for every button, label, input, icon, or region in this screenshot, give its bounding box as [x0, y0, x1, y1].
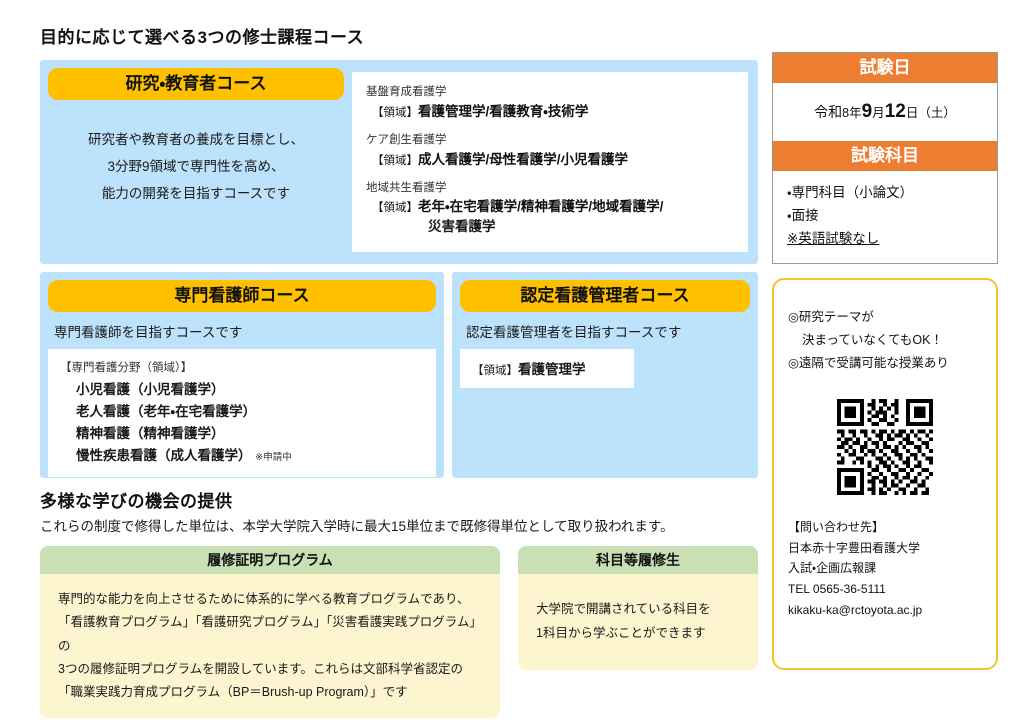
- brochure-page: 目的に応じて選べる3つの修士課程コース 研究・教育者コース 研究者や教育者の養成…: [0, 0, 1024, 724]
- program-certificate-header: 履修証明プログラム: [40, 546, 500, 574]
- cns-spec-label: 慢性疾患看護（成人看護学）: [76, 448, 252, 463]
- exam-date-value: 令和8年9月12日（土）: [773, 83, 997, 141]
- exam-info-column: 試験日 令和8年9月12日（土） 試験科目 ・専門科目（小論文） ・面接 ※英語…: [772, 52, 998, 670]
- course-admin-area: 看護管理学: [518, 362, 586, 377]
- cns-spec-item: 慢性疾患看護（成人看護学） ※申請中: [60, 445, 424, 467]
- cns-spec-item: 小児看護（小児看護学）: [60, 379, 424, 401]
- exam-day: 12: [885, 101, 906, 122]
- course-research-line-3: 能力の開発を目指すコースです: [48, 180, 344, 207]
- exam-subject-item: ・専門科目（小論文）: [787, 181, 985, 204]
- exam-subject-list: ・専門科目（小論文） ・面接 ※英語試験なし: [773, 171, 997, 263]
- cns-spec-header: 【専門看護分野（領域）】: [60, 359, 424, 375]
- contact-university: 日本赤十字豊田看護大学: [788, 538, 982, 559]
- contact-header: 【問い合わせ先】: [788, 517, 982, 538]
- cns-spec-item: 老人看護（老年・在宅看護学）: [60, 401, 424, 423]
- auditor-body: 大学院で開講されている科目を 1科目から学ぶことができます: [518, 574, 758, 670]
- field-group: ケア創生看護学 【領域】成人看護学/母性看護学/小児看護学: [366, 132, 734, 169]
- course-admin-header: 認定看護管理者コース: [460, 280, 750, 312]
- contact-block: 【問い合わせ先】 日本赤十字豊田看護大学 入試・企画広報課 TEL 0565-3…: [788, 517, 982, 620]
- programs-row: 履修証明プログラム 専門的な能力を向上させるために体系的に学べる教育プログラムで…: [40, 546, 758, 718]
- area-tag: 【領域】: [372, 202, 418, 214]
- courses-column: 目的に応じて選べる3つの修士課程コース 研究・教育者コース 研究者や教育者の養成…: [40, 28, 758, 718]
- exam-month-unit: 月: [872, 106, 885, 120]
- info-box: ◎研究テーマが 決まっていなくてもOK！ ◎遠隔で受講可能な授業あり: [772, 278, 998, 670]
- field-name: 地域共生看護学: [366, 180, 734, 197]
- exam-year-unit: 年: [849, 106, 862, 120]
- contact-phone: TEL 0565-36-5111: [788, 579, 982, 600]
- area-list: 成人看護学/母性看護学/小児看護学: [418, 152, 628, 167]
- cns-spec-note: ※申請中: [255, 452, 291, 463]
- course-cns-panel: 専門看護師コース 専門看護師を目指すコースです 【専門看護分野（領域）】 小児看…: [40, 272, 444, 478]
- qr-code[interactable]: [837, 399, 933, 495]
- field-group: 基盤育成看護学 【領域】看護管理学/看護教育・技術学: [366, 84, 734, 121]
- field-areas: 【領域】成人看護学/母性看護学/小児看護学: [366, 150, 734, 170]
- contact-email: kikaku-ka@rctoyota.ac.jp: [788, 600, 982, 621]
- course-admin-lead: 認定看護管理者を目指すコースです: [460, 312, 750, 349]
- info-point: ◎遠隔で受講可能な授業あり: [788, 352, 982, 375]
- contact-department: 入試・企画広報課: [788, 558, 982, 579]
- course-research-description: 研究者や教育者の養成を目標とし、 3分野9領域で専門性を高め、 能力の開発を目指…: [48, 100, 344, 207]
- field-areas: 【領域】老年・在宅看護学/精神看護学/地域看護学/: [366, 197, 734, 217]
- exam-era: 令和: [814, 104, 842, 120]
- learning-title: 多様な学びの機会の提供: [40, 492, 758, 512]
- field-name: ケア創生看護学: [366, 132, 734, 149]
- course-cns-card: 【専門看護分野（領域）】 小児看護（小児看護学） 老人看護（老年・在宅看護学） …: [48, 349, 436, 476]
- program-line: 3つの履修証明プログラムを開設しています。これらは文部科学省認定の: [58, 658, 484, 681]
- program-line: 「看護教育プログラム」「看護研究プログラム」「災害看護実践プログラム」の: [58, 611, 484, 657]
- course-research-line-1: 研究者や教育者の養成を目標とし、: [48, 126, 344, 153]
- cns-spec-item: 精神看護（精神看護学）: [60, 423, 424, 445]
- program-certificate-box: 履修証明プログラム 専門的な能力を向上させるために体系的に学べる教育プログラムで…: [40, 546, 500, 718]
- cns-spec-label: 老人看護（老年・在宅看護学）: [76, 404, 256, 419]
- course-admin-card: 【領域】看護管理学: [460, 349, 634, 388]
- program-line: 「職業実践力育成プログラム（BP＝Brush-up Program）」です: [58, 681, 484, 704]
- exam-box: 試験日 令和8年9月12日（土） 試験科目 ・専門科目（小論文） ・面接 ※英語…: [772, 52, 998, 264]
- exam-subject-item: ・面接: [787, 204, 985, 227]
- qr-code-icon: [837, 399, 933, 495]
- field-group: 地域共生看護学 【領域】老年・在宅看護学/精神看護学/地域看護学/ 災害看護学: [366, 180, 734, 236]
- exam-weekday: （土）: [918, 106, 956, 120]
- cns-spec-label: 精神看護（精神看護学）: [76, 426, 225, 441]
- area-tag: 【領域】: [472, 365, 518, 377]
- course-bottom-row: 専門看護師コース 専門看護師を目指すコースです 【専門看護分野（領域）】 小児看…: [40, 272, 758, 478]
- course-research-line-2: 3分野9領域で専門性を高め、: [48, 153, 344, 180]
- auditor-header: 科目等履修生: [518, 546, 758, 574]
- auditor-box: 科目等履修生 大学院で開講されている科目を 1科目から学ぶことができます: [518, 546, 758, 718]
- cns-spec-label: 小児看護（小児看護学）: [76, 382, 225, 397]
- field-areas: 【領域】看護管理学/看護教育・技術学: [366, 102, 734, 122]
- area-tag: 【領域】: [372, 155, 418, 167]
- exam-date-header: 試験日: [773, 53, 997, 83]
- area-list-continued: 災害看護学: [366, 217, 734, 237]
- course-research-panel: 研究・教育者コース 研究者や教育者の養成を目標とし、 3分野9領域で専門性を高め…: [40, 60, 758, 264]
- area-tag: 【領域】: [372, 107, 418, 119]
- program-line: 専門的な能力を向上させるために体系的に学べる教育プログラムであり、: [58, 588, 484, 611]
- field-name: 基盤育成看護学: [366, 84, 734, 101]
- area-list: 老年・在宅看護学/精神看護学/地域看護学/: [418, 199, 663, 214]
- course-research-left: 研究・教育者コース 研究者や教育者の養成を目標とし、 3分野9領域で専門性を高め…: [48, 68, 344, 207]
- exam-english-note: ※英語試験なし: [787, 227, 985, 250]
- learning-subtitle: これらの制度で修得した単位は、本学大学院入学時に最大15単位まで既修得単位として…: [40, 517, 758, 537]
- course-cns-lead: 専門看護師を目指すコースです: [48, 312, 436, 349]
- auditor-line: 大学院で開講されている科目を: [536, 598, 742, 622]
- exam-day-unit: 日: [906, 106, 919, 120]
- exam-month: 9: [862, 101, 873, 122]
- info-point: 決まっていなくてもOK！: [788, 329, 982, 352]
- auditor-line: 1科目から学ぶことができます: [536, 622, 742, 646]
- info-point: ◎研究テーマが: [788, 306, 982, 329]
- course-research-header: 研究・教育者コース: [48, 68, 344, 100]
- course-admin-panel: 認定看護管理者コース 認定看護管理者を目指すコースです 【領域】看護管理学: [452, 272, 758, 478]
- exam-subject-header: 試験科目: [773, 141, 997, 171]
- course-research-fields-card: 基盤育成看護学 【領域】看護管理学/看護教育・技術学 ケア創生看護学 【領域】成…: [352, 72, 748, 252]
- page-title: 目的に応じて選べる3つの修士課程コース: [40, 28, 758, 48]
- program-certificate-body: 専門的な能力を向上させるために体系的に学べる教育プログラムであり、 「看護教育プ…: [40, 574, 500, 718]
- course-cns-header: 専門看護師コース: [48, 280, 436, 312]
- area-list: 看護管理学/看護教育・技術学: [418, 104, 588, 119]
